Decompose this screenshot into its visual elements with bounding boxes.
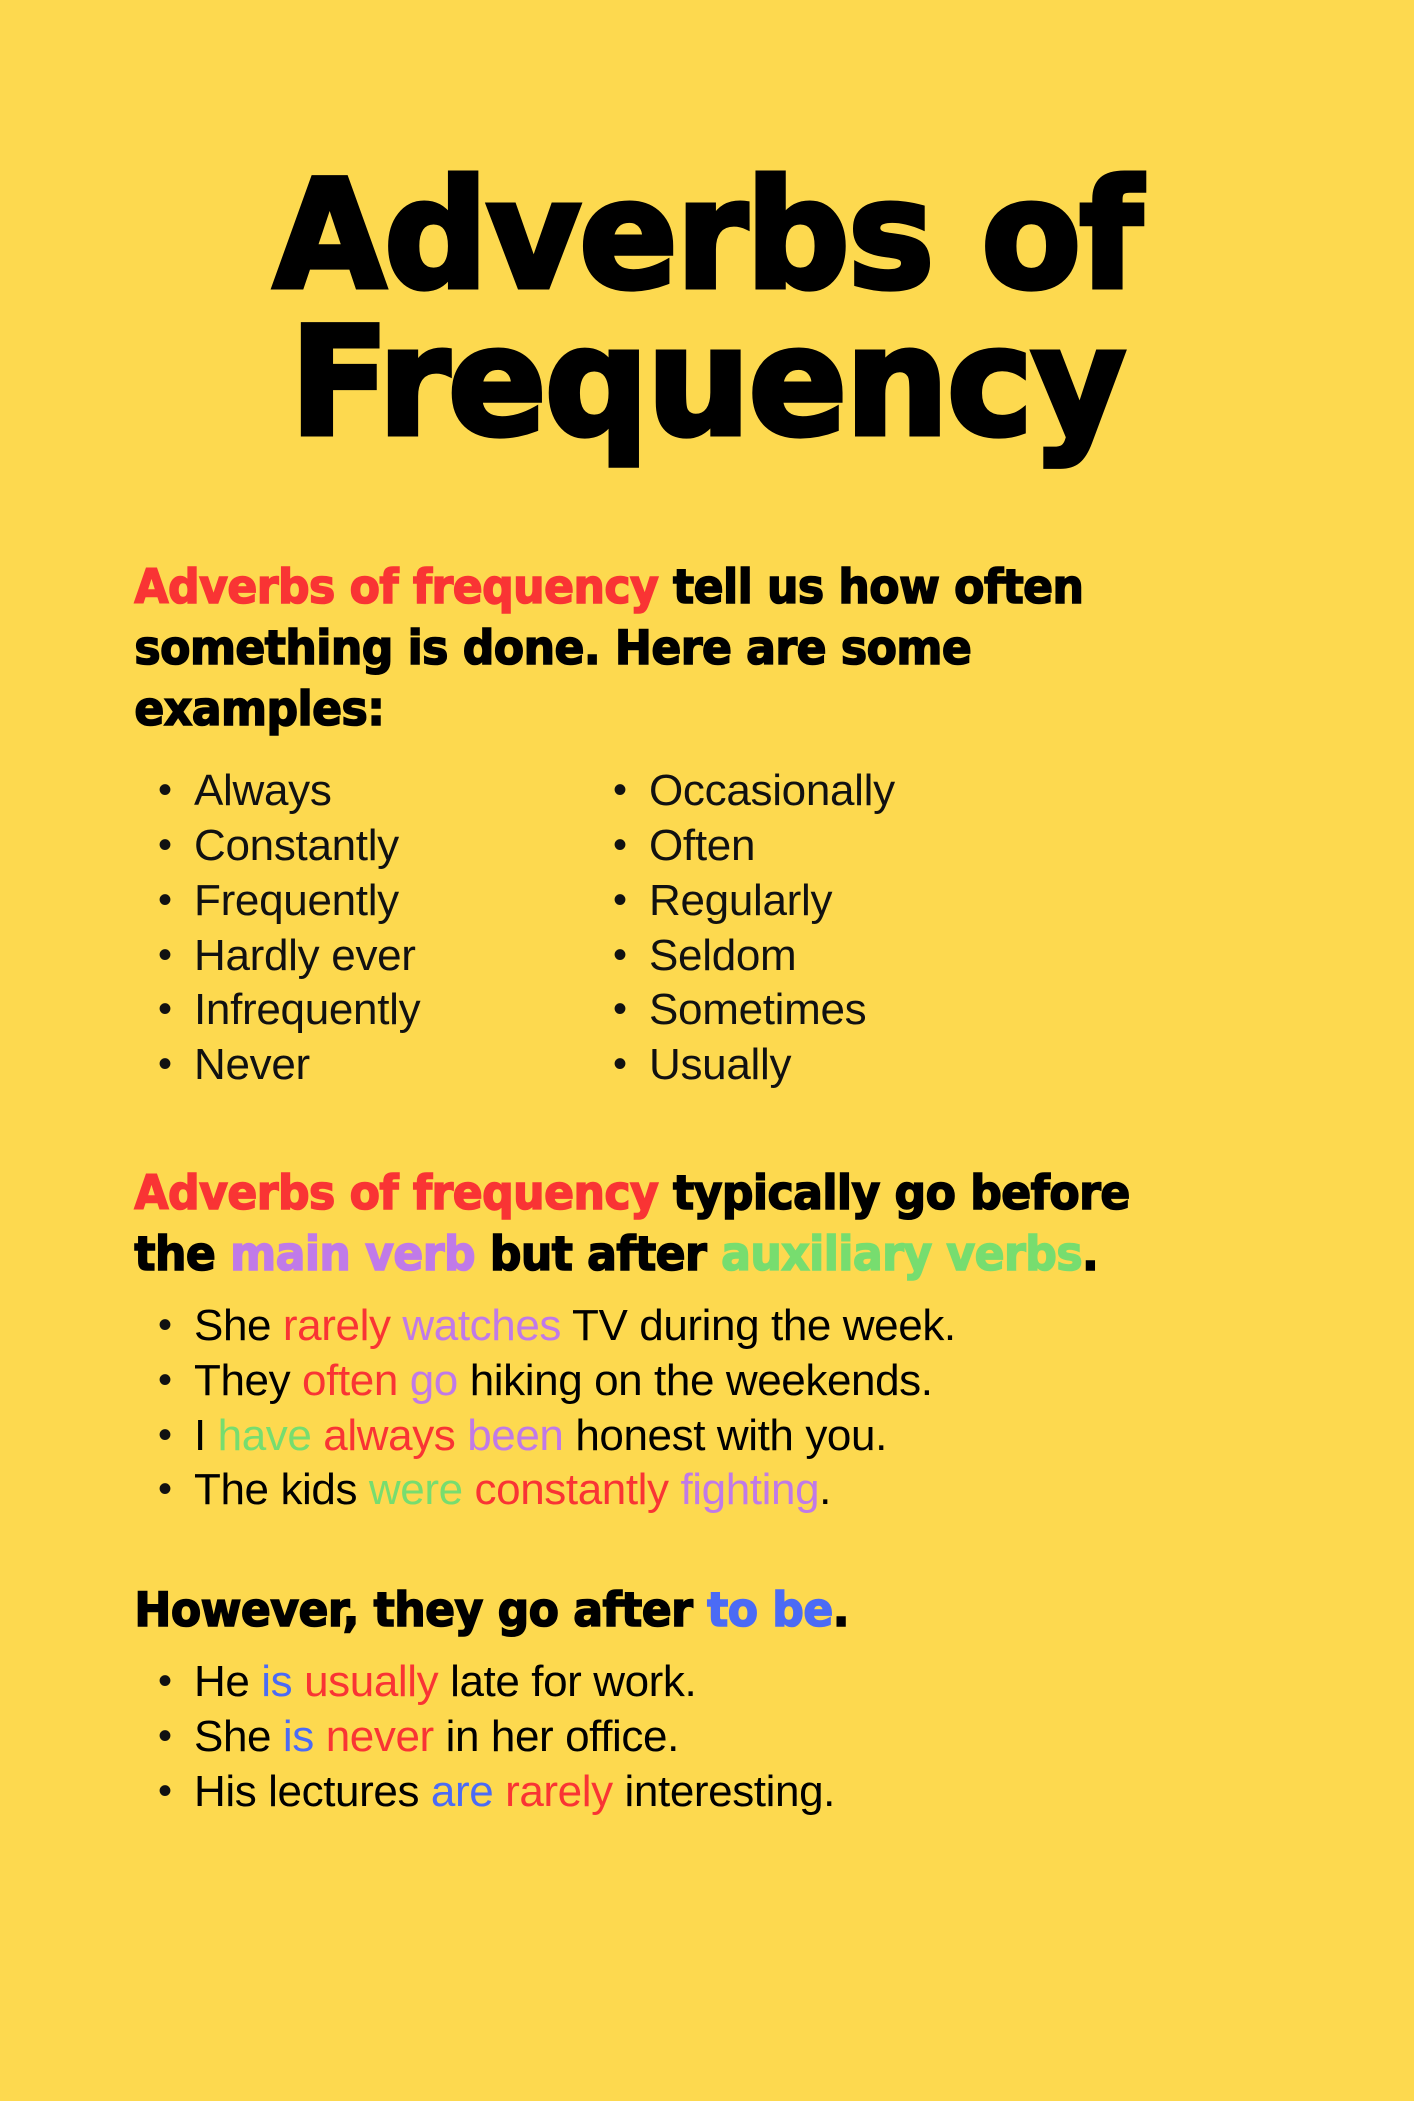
list-item: Never [150,1038,605,1093]
segment: She [194,1301,283,1350]
segment: . [819,1465,831,1514]
rule-two-examples: He is usually late for work. She is neve… [0,1655,1414,1819]
page-title-line-2: Frequency [138,310,1277,457]
list-item: Frequently [150,874,605,929]
segment: rarely [505,1767,624,1816]
list-item: She rarely watches TV during the week. [150,1299,1354,1354]
list-item: Infrequently [150,983,605,1038]
segment: His lectures [194,1767,431,1816]
list-item: Occasionally [605,764,1060,819]
intro-highlight: Adverbs of frequency [134,560,658,615]
adverb-list-right: Occasionally Often Regularly Seldom Some… [605,764,1060,1093]
adverb-list-left: Always Constantly Frequently Hardly ever… [150,764,605,1093]
segment: never [326,1712,446,1761]
segment: constantly [475,1465,681,1514]
segment: She [194,1712,283,1761]
adverb-word-columns: Always Constantly Frequently Hardly ever… [0,764,1414,1093]
list-item: Usually [605,1038,1060,1093]
segment: go [410,1356,470,1405]
segment: They [194,1356,302,1405]
segment: late for work. [450,1657,696,1706]
list-item: Constantly [150,819,605,874]
list-item: Seldom [605,929,1060,984]
rule-one-main-verb: main verb [230,1227,475,1282]
segment: honest with you. [575,1411,887,1460]
list-item: They often go hiking on the weekends. [150,1354,1354,1409]
list-item: Sometimes [605,983,1060,1038]
list-item: She is never in her office. [150,1710,1354,1765]
rule-one-part1: Adverbs of frequency [134,1166,658,1221]
segment: usually [304,1657,450,1706]
page-title: Adverbs of Frequency [21,101,1393,457]
segment: hiking on the weekends. [470,1356,933,1405]
list-item: He is usually late for work. [150,1655,1354,1710]
segment: rarely [283,1301,402,1350]
segment: watches [402,1301,572,1350]
segment: often [302,1356,410,1405]
adverb-column-left: Always Constantly Frequently Hardly ever… [150,764,605,1093]
rule-one-heading: Adverbs of frequency typically go before… [0,1163,1329,1285]
segment: were [369,1465,475,1514]
rule-two-part1: However, they go after [134,1583,707,1638]
rule-one-part6: . [1082,1227,1098,1282]
list-item: Hardly ever [150,929,605,984]
segment: TV during the week. [572,1301,956,1350]
segment: been [467,1411,575,1460]
segment: is [283,1712,326,1761]
rule-two-heading: However, they go after to be. [0,1580,1329,1641]
segment: is [261,1657,304,1706]
list-item: Always [150,764,605,819]
list-item: The kids were constantly fighting. [150,1463,1354,1518]
segment: are [431,1767,505,1816]
rule-one-auxiliary-verbs: auxiliary verbs [721,1227,1082,1282]
segment: interesting. [625,1767,835,1816]
segment: have [218,1411,324,1460]
rule-two-part3: . [833,1583,849,1638]
list-item: Regularly [605,874,1060,929]
rule-one-examples: She rarely watches TV during the week. T… [0,1299,1414,1518]
poster-canvas: Adverbs of Frequency Adverbs of frequenc… [0,101,1414,2101]
rule-one-part4: but after [475,1227,721,1282]
segment: fighting [680,1465,819,1514]
page-title-line-1: Adverbs of [138,163,1277,310]
list-item: Often [605,819,1060,874]
adverb-column-right: Occasionally Often Regularly Seldom Some… [605,764,1060,1093]
list-item: I have always been honest with you. [150,1409,1354,1464]
segment: The kids [194,1465,369,1514]
rule-two-to-be: to be [707,1583,833,1638]
segment: He [194,1657,261,1706]
segment: in her office. [446,1712,679,1761]
segment: I [194,1411,218,1460]
segment: always [323,1411,467,1460]
intro-paragraph: Adverbs of frequency tell us how often s… [0,557,1329,740]
list-item: His lectures are rarely interesting. [150,1765,1354,1820]
